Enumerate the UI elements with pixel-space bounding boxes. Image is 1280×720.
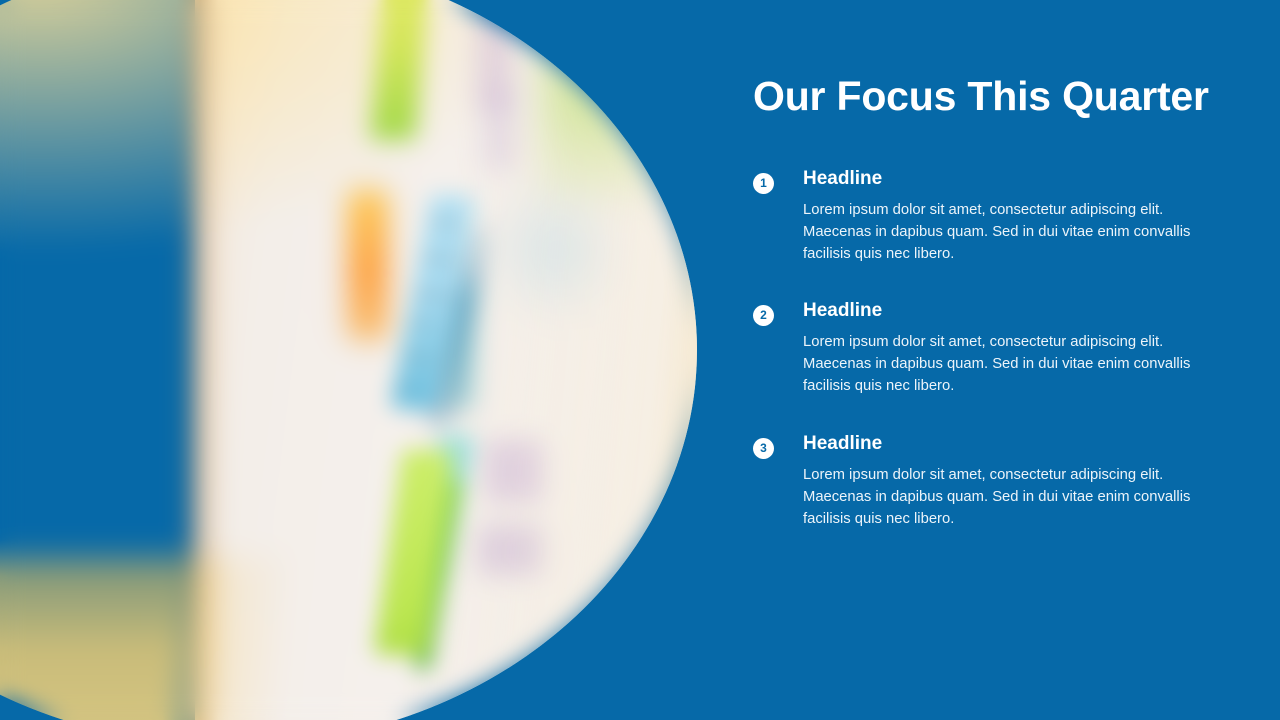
photo-blur-overlay <box>0 0 700 720</box>
photo-ellipse-mask <box>0 0 700 720</box>
list-item[interactable]: 3 Headline Lorem ipsum dolor sit amet, c… <box>753 433 1223 530</box>
content-panel: Our Focus This Quarter 1 Headline Lorem … <box>753 0 1233 720</box>
item-number-badge: 3 <box>753 438 774 459</box>
item-content: Headline Lorem ipsum dolor sit amet, con… <box>803 168 1207 265</box>
item-content: Headline Lorem ipsum dolor sit amet, con… <box>803 433 1207 530</box>
item-content: Headline Lorem ipsum dolor sit amet, con… <box>803 300 1207 397</box>
page-title: Our Focus This Quarter <box>753 74 1209 119</box>
focus-items-list: 1 Headline Lorem ipsum dolor sit amet, c… <box>753 168 1223 530</box>
item-headline: Headline <box>803 433 1207 456</box>
sticky-note-wall-photo <box>0 0 700 720</box>
slide: Our Focus This Quarter 1 Headline Lorem … <box>0 0 1280 720</box>
list-item[interactable]: 1 Headline Lorem ipsum dolor sit amet, c… <box>753 168 1223 265</box>
item-number-badge: 2 <box>753 305 774 326</box>
item-number-badge: 1 <box>753 173 774 194</box>
item-description: Lorem ipsum dolor sit amet, consectetur … <box>803 332 1207 398</box>
item-description: Lorem ipsum dolor sit amet, consectetur … <box>803 465 1207 531</box>
list-item[interactable]: 2 Headline Lorem ipsum dolor sit amet, c… <box>753 300 1223 397</box>
item-headline: Headline <box>803 168 1207 191</box>
item-description: Lorem ipsum dolor sit amet, consectetur … <box>803 200 1207 266</box>
item-headline: Headline <box>803 300 1207 323</box>
